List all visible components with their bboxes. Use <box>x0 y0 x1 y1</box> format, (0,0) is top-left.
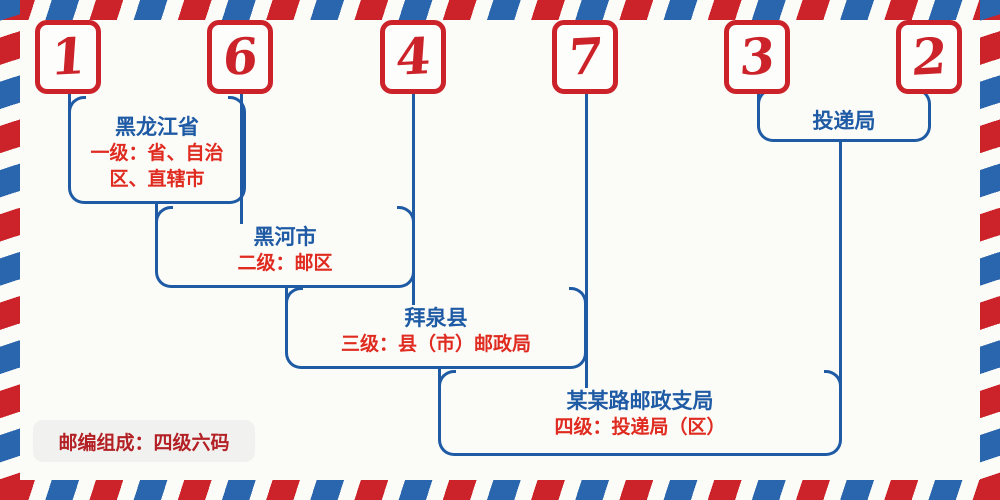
postcode-digit-2[interactable]: 6 <box>207 20 273 94</box>
level-name: 某某路邮政支局 <box>441 388 839 414</box>
level-description: 一级：省、自治区、直辖市 <box>71 140 243 192</box>
level-name: 黑河市 <box>158 224 412 250</box>
airmail-border-right <box>980 0 1000 500</box>
airmail-border-left <box>0 0 20 500</box>
postcode-digit-3[interactable]: 4 <box>380 20 446 94</box>
digit-glyph: 3 <box>738 31 776 83</box>
postcode-diagram: 164732 黑龙江省一级：省、自治区、直辖市黑河市二级：邮区拜泉县三级：县（市… <box>0 0 1000 500</box>
level-description: 三级：县（市）邮政局 <box>288 331 584 357</box>
level-box-content: 黑河市二级：邮区 <box>158 224 412 276</box>
postcode-digit-1[interactable]: 1 <box>35 20 101 94</box>
level-box-delivery[interactable]: 投递局 <box>757 104 931 142</box>
caption-badge: 邮编组成：四级六码 <box>33 420 255 462</box>
level-box-level3[interactable]: 拜泉县三级：县（市）邮政局 <box>285 303 587 369</box>
airmail-border-bottom <box>0 480 1000 500</box>
digit-glyph: 2 <box>910 31 948 83</box>
airmail-border-top <box>0 0 1000 20</box>
postcode-digit-6[interactable]: 2 <box>896 20 962 94</box>
box-corner-right-icon <box>228 96 246 114</box>
level-name: 黑龙江省 <box>71 114 243 140</box>
delivery-to-level4-line <box>839 141 842 388</box>
level-name: 投递局 <box>760 108 928 134</box>
level-description: 二级：邮区 <box>158 250 412 276</box>
level-description: 四级：投递局（区） <box>441 414 839 440</box>
digit-glyph: 1 <box>49 31 87 83</box>
level-box-content: 黑龙江省一级：省、自治区、直辖市 <box>71 114 243 192</box>
level-box-level2[interactable]: 黑河市二级：邮区 <box>155 222 415 288</box>
level-box-level4[interactable]: 某某路邮政支局四级：投递局（区） <box>438 386 842 456</box>
digit-glyph: 4 <box>394 31 432 83</box>
level-box-level1[interactable]: 黑龙江省一级：省、自治区、直辖市 <box>68 112 246 204</box>
postcode-digit-4[interactable]: 7 <box>552 20 618 94</box>
level-box-content: 投递局 <box>760 108 928 134</box>
caption-label: 邮编组成：四级六码 <box>58 428 229 455</box>
digit-glyph: 7 <box>566 31 604 83</box>
level-name: 拜泉县 <box>288 305 584 331</box>
level-box-content: 某某路邮政支局四级：投递局（区） <box>441 388 839 440</box>
postcode-digit-5[interactable]: 3 <box>724 20 790 94</box>
level-box-content: 拜泉县三级：县（市）邮政局 <box>288 305 584 357</box>
digit-glyph: 6 <box>221 31 259 83</box>
